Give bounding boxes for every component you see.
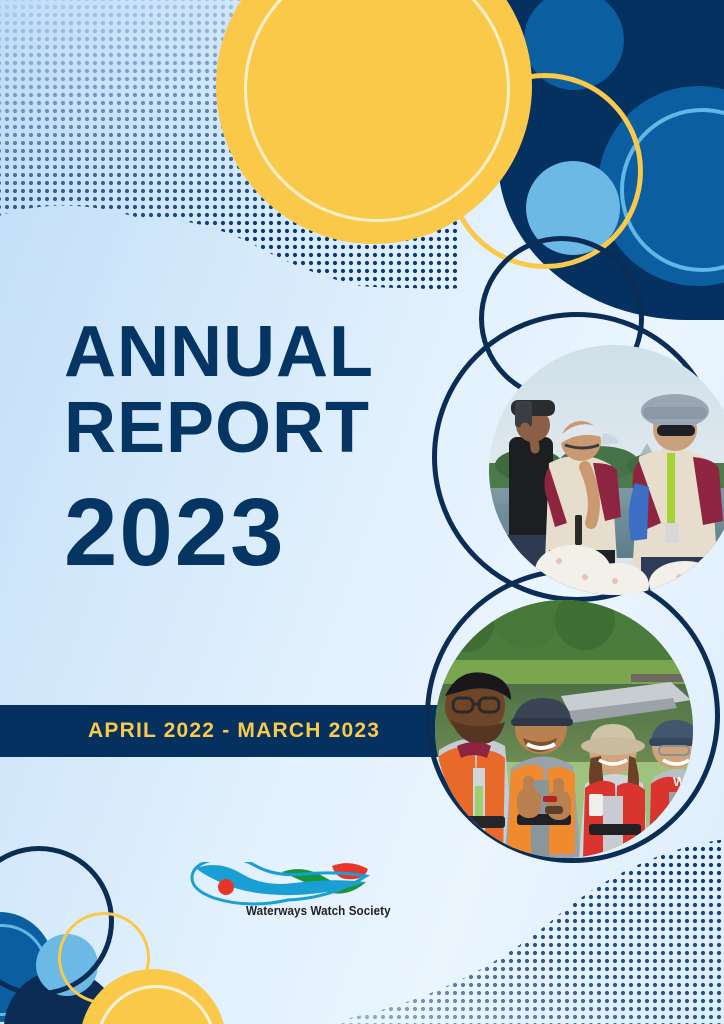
red-eye-dot-icon xyxy=(218,879,234,895)
navy-top-shape xyxy=(498,0,724,320)
page-title: ANNUAL REPORT 2023 xyxy=(64,318,484,581)
halftone-dots-top-svg xyxy=(0,0,458,328)
yellow-disc-bottom-inner-ring xyxy=(96,985,216,1024)
photo-upper-art xyxy=(489,345,724,595)
logo-text: Waterways Watch Society xyxy=(246,904,391,918)
svg-text:W: W xyxy=(673,774,686,789)
navy-disc-bottom xyxy=(4,970,120,1024)
annual-report-cover: ANNUAL REPORT 2023 APRIL 2022 - MARCH 20… xyxy=(0,0,724,1024)
halftone-dots-bottom-svg xyxy=(300,830,724,1024)
yellow-ring-top xyxy=(447,73,643,269)
light-blue-disc-top xyxy=(526,161,620,255)
blue-disc-right xyxy=(598,86,724,286)
yellow-ring-bottom xyxy=(58,912,150,1004)
date-range-banner: APRIL 2022 - MARCH 2023 xyxy=(0,705,470,757)
halftone-dots-bottom xyxy=(300,830,724,1024)
waterways-watch-society-logo: Waterways Watch Society xyxy=(186,862,398,926)
blue-disc-bottom xyxy=(0,912,54,1022)
logo-mark xyxy=(186,862,398,908)
blue-circle-top xyxy=(524,0,624,90)
blue-disc-right-inner-ring xyxy=(620,108,724,272)
yellow-disc-top xyxy=(216,0,532,244)
blue-disc-bottom-inner-ring xyxy=(0,924,48,1016)
halftone-dots-top xyxy=(0,0,458,328)
light-blue-disc-bottom xyxy=(36,934,98,996)
navy-ring-bottom xyxy=(0,846,114,996)
photo-lower-art: W xyxy=(435,600,693,858)
title-line-annual: ANNUAL xyxy=(64,318,484,386)
volunteers-weighing-trash-photo xyxy=(489,345,724,595)
title-year: 2023 xyxy=(64,485,484,581)
title-line-report: REPORT xyxy=(64,394,484,462)
volunteers-life-jackets-photo: W xyxy=(435,600,693,858)
yellow-disc-top-inner-ring xyxy=(244,0,510,222)
yellow-disc-bottom xyxy=(80,969,226,1024)
date-range-text: APRIL 2022 - MARCH 2023 xyxy=(88,719,380,743)
